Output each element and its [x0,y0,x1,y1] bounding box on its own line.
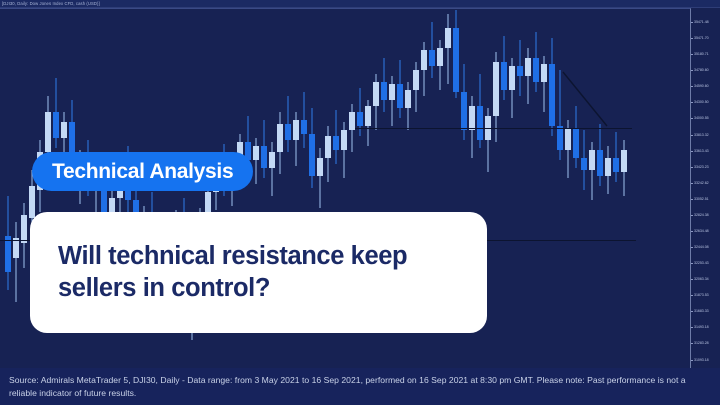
price-axis-tick: 33813.32 [691,132,720,138]
price-axis-tick: 35471.48 [691,19,720,25]
price-axis-tick: 33613.43 [691,148,720,154]
price-axis-tick: 34000.55 [691,115,720,121]
price-axis-tick: 33423.23 [691,164,720,170]
price-axis: 35471.4835471.7035180.7134780.6034590.60… [691,8,720,368]
price-axis-tick: 32444.08 [691,244,720,250]
price-axis-tick: 32063.34 [691,276,720,282]
price-axis-tick: 31493.18 [691,324,720,330]
price-axis-tick: 35180.71 [691,51,720,57]
price-axis-tick: 35471.70 [691,35,720,41]
footer-disclaimer: Source: Admirals MetaTrader 5, DJI30, Da… [0,368,720,405]
price-axis-tick: 32253.43 [691,260,720,266]
footer-text: Source: Admirals MetaTrader 5, DJI30, Da… [9,374,711,399]
technical-analysis-badge: Technical Analysis [32,152,253,191]
price-axis-tick: 34780.60 [691,67,720,73]
price-axis-tick: 31093.18 [691,357,720,363]
price-axis-tick: 33052.51 [691,196,720,202]
price-axis-tick: 31283.28 [691,340,720,346]
symbol-bar: [DJI30, Daily: Dow Jones Index CFD, cash… [0,0,720,8]
headline-card: Will technical resistance keep sellers i… [30,212,487,333]
price-axis-tick: 34300.50 [691,99,720,105]
price-axis-tick: 33242.62 [691,180,720,186]
horizontal-resistance-line [355,128,632,129]
price-axis-tick: 31873.53 [691,292,720,298]
price-axis-tick: 32824.38 [691,212,720,218]
price-axis-tick: 31683.33 [691,308,720,314]
badge-label: Technical Analysis [52,160,233,184]
symbol-label: [DJI30, Daily: Dow Jones Index CFD, cash… [2,0,100,8]
technical-analysis-graphic: [DJI30, Daily: Dow Jones Index CFD, cash… [0,0,720,405]
price-axis-tick: 32634.48 [691,228,720,234]
price-axis-tick: 34590.60 [691,83,720,89]
headline-text: Will technical resistance keep sellers i… [30,241,487,303]
